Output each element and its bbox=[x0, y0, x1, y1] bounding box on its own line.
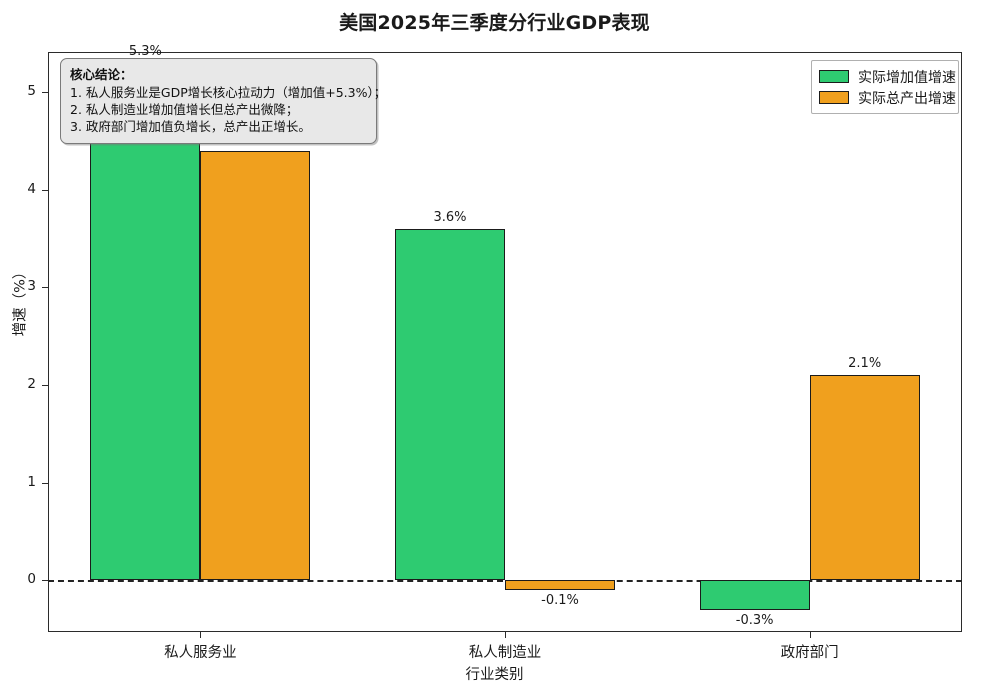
bar-value-label: 3.6% bbox=[370, 210, 530, 225]
y-axis-title: 增速（%） bbox=[9, 246, 30, 356]
y-tick-label: 1 bbox=[6, 474, 36, 490]
x-tick-label: 私人服务业 bbox=[110, 641, 290, 662]
annotation-line-3: 3. 政府部门增加值负增长，总产出正增长。 bbox=[70, 118, 367, 135]
x-tick-mark bbox=[505, 632, 506, 638]
legend-label-value-added: 实际增加值增速 bbox=[858, 67, 956, 87]
bar-value-label: -0.1% bbox=[480, 593, 640, 608]
y-tick-label: 5 bbox=[6, 83, 36, 99]
y-tick-label: 0 bbox=[6, 571, 36, 587]
legend-swatch-value-added bbox=[819, 70, 849, 83]
chart-title: 美国2025年三季度分行业GDP表现 bbox=[0, 8, 989, 35]
bar-gross-output[interactable] bbox=[810, 375, 920, 580]
y-tick-mark bbox=[42, 92, 48, 93]
bar-value-added[interactable] bbox=[700, 580, 810, 609]
y-tick-label: 4 bbox=[6, 181, 36, 197]
bar-gross-output[interactable] bbox=[505, 580, 615, 590]
legend-label-gross-output: 实际总产出增速 bbox=[858, 88, 956, 108]
x-tick-label: 私人制造业 bbox=[415, 641, 595, 662]
x-tick-mark bbox=[200, 632, 201, 638]
annotation-line-2: 2. 私人制造业增加值增长但总产出微降； bbox=[70, 101, 367, 118]
legend-swatch-gross-output bbox=[819, 91, 849, 104]
x-tick-label: 政府部门 bbox=[720, 641, 900, 662]
y-tick-label: 2 bbox=[6, 376, 36, 392]
bar-value-label: 2.1% bbox=[785, 356, 945, 371]
y-tick-mark bbox=[42, 483, 48, 484]
y-tick-mark bbox=[42, 385, 48, 386]
legend-item-gross-output[interactable]: 实际总产出增速 bbox=[819, 87, 951, 108]
annotation-title: 核心结论： bbox=[70, 66, 367, 83]
y-tick-label: 3 bbox=[6, 278, 36, 294]
y-tick-mark bbox=[42, 190, 48, 191]
annotation-line-1: 1. 私人服务业是GDP增长核心拉动力（增加值+5.3%）； bbox=[70, 84, 367, 101]
y-tick-mark bbox=[42, 287, 48, 288]
chart-legend: 实际增加值增速 实际总产出增速 bbox=[811, 60, 959, 114]
bar-value-label: -0.3% bbox=[675, 613, 835, 628]
x-tick-mark bbox=[810, 632, 811, 638]
bar-value-added[interactable] bbox=[395, 229, 505, 581]
bar-gross-output[interactable] bbox=[200, 151, 310, 581]
bar-value-label: 5.3% bbox=[65, 44, 225, 59]
x-axis-title: 行业类别 bbox=[0, 663, 989, 684]
annotation-box: 核心结论： 1. 私人服务业是GDP增长核心拉动力（增加值+5.3%）； 2. … bbox=[60, 58, 377, 144]
legend-item-value-added[interactable]: 实际增加值增速 bbox=[819, 66, 951, 87]
